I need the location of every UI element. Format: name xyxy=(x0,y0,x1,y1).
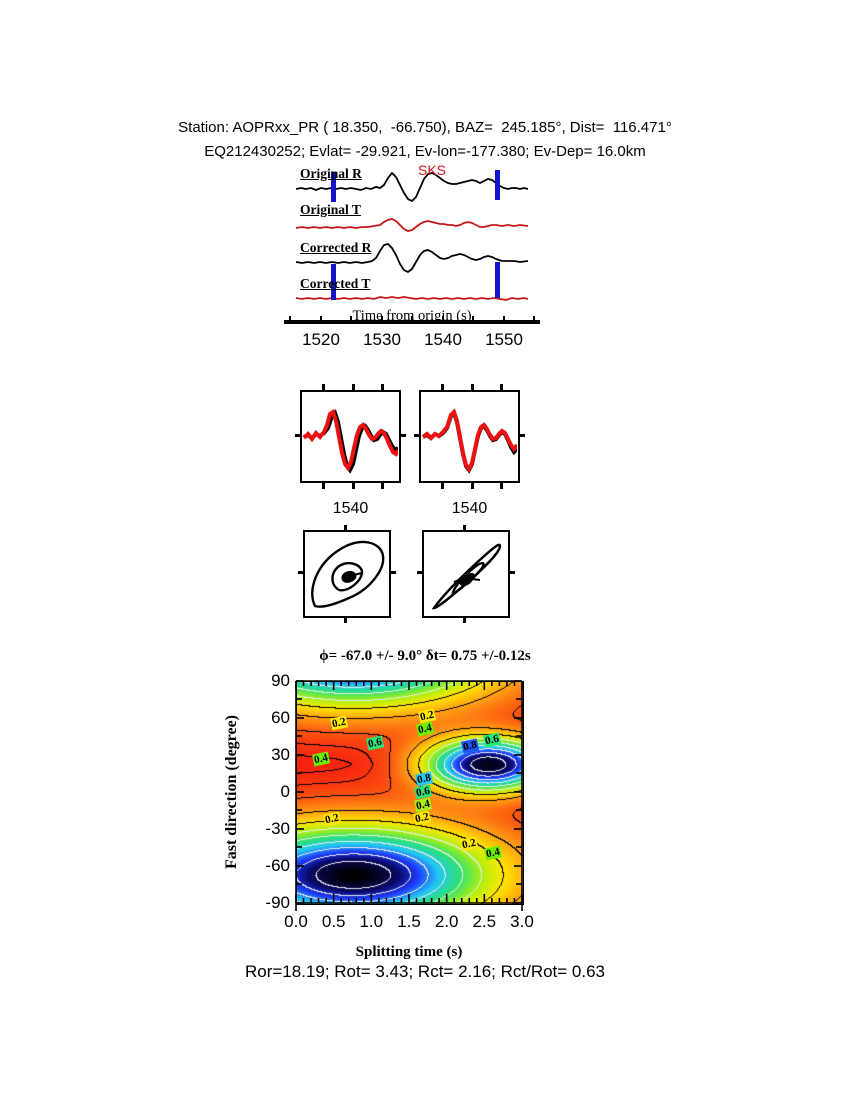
bottom-tick xyxy=(441,481,444,489)
bottom-tick xyxy=(322,481,325,489)
xtick-0.5: 0.5 xyxy=(322,912,346,932)
right-axis-nub xyxy=(399,434,406,437)
contour-label-0.8: 0.8 xyxy=(415,771,433,786)
left-axis-nub xyxy=(298,571,305,574)
ytick-0: 0 xyxy=(281,782,290,802)
trace-label-corrected-transverse: Corrected T xyxy=(300,276,370,292)
quality-statistics-line: Ror=18.19; Rot= 3.43; Rct= 2.16; Rct/Rot… xyxy=(0,962,850,982)
bottom-tick xyxy=(500,481,503,489)
fast-slow-waveforms-uncorrected xyxy=(300,390,401,483)
window-marker-end xyxy=(495,170,500,200)
particle-motion-uncorrected xyxy=(303,530,391,618)
ytick-90: 90 xyxy=(271,671,290,691)
particle-motion-curve-corrected xyxy=(424,532,507,615)
ytick-60: 60 xyxy=(271,708,290,728)
trace-label-original-transverse: Original T xyxy=(300,202,361,218)
bottom-axis-nub xyxy=(463,616,466,623)
ytick-m30: -30 xyxy=(265,819,290,839)
window-marker-end-corrected xyxy=(495,262,500,298)
time-tick-1540: 1540 xyxy=(424,330,462,350)
wf-xtick-label-left: 1540 xyxy=(300,500,401,518)
top-axis-nub xyxy=(463,525,466,532)
bottom-tick xyxy=(471,481,474,489)
left-axis-nub xyxy=(417,571,424,574)
ytick-30: 30 xyxy=(271,745,290,765)
top-tick xyxy=(322,384,325,392)
figure-header: Station: AOPRxx_PR ( 18.350, -66.750), B… xyxy=(0,116,850,164)
time-axis-line xyxy=(274,315,550,329)
bottom-tick xyxy=(352,481,355,489)
xtick-1.5: 1.5 xyxy=(397,912,421,932)
left-axis-nub xyxy=(414,434,421,437)
top-tick xyxy=(381,384,384,392)
right-axis-nub xyxy=(508,571,515,574)
xtick-2.5: 2.5 xyxy=(472,912,496,932)
ytick-m60: -60 xyxy=(265,856,290,876)
top-tick xyxy=(352,384,355,392)
wf-xtick-label-right: 1540 xyxy=(419,500,520,518)
particle-motion-corrected xyxy=(422,530,510,618)
fast-slow-overlay-corrected xyxy=(421,392,517,480)
bottom-tick xyxy=(381,481,384,489)
contour-y-tick-labels: 90 60 30 0 -30 -60 -90 xyxy=(238,681,290,903)
fast-slow-waveforms-corrected xyxy=(419,390,520,483)
xtick-3.0: 3.0 xyxy=(510,912,534,932)
event-info-line: EQ212430252; Evlat= -29.921, Ev-lon=-177… xyxy=(0,140,850,164)
right-axis-nub xyxy=(518,434,525,437)
top-axis-nub xyxy=(344,525,347,532)
trace-original-transverse: Original T xyxy=(296,204,528,238)
contour-x-tick-labels: 0.0 0.5 1.0 1.5 2.0 2.5 3.0 xyxy=(296,912,522,936)
station-info-line: Station: AOPRxx_PR ( 18.350, -66.750), B… xyxy=(0,116,850,140)
particle-motion-curve-uncorrected xyxy=(305,532,388,615)
top-tick xyxy=(500,384,503,392)
bottom-axis-nub xyxy=(344,616,347,623)
contour-x-axis-label: Splitting time (s) xyxy=(296,944,522,961)
trace-label-corrected-radial: Corrected R xyxy=(300,240,371,256)
xtick-0.0: 0.0 xyxy=(284,912,308,932)
trace-label-original-radial: Original R xyxy=(300,166,362,182)
seismogram-panel: SKS Original R Original T Corrected R Co… xyxy=(296,168,528,318)
contour-axis-ticks xyxy=(294,673,526,913)
right-axis-nub xyxy=(389,571,396,574)
left-axis-nub xyxy=(295,434,302,437)
time-tick-1530: 1530 xyxy=(363,330,401,350)
xtick-2.0: 2.0 xyxy=(435,912,459,932)
xtick-1.0: 1.0 xyxy=(359,912,383,932)
trace-corrected-transverse: Corrected T xyxy=(296,278,528,312)
best-fit-star-marker: ★ xyxy=(344,865,364,887)
time-tick-1550: 1550 xyxy=(485,330,523,350)
contour-plot-title: ϕ= -67.0 +/- 9.0° δt= 0.75 +/-0.12s xyxy=(180,648,670,665)
time-tick-1520: 1520 xyxy=(302,330,340,350)
sks-phase-label: SKS xyxy=(418,162,446,178)
contour-label-0.2: 0.2 xyxy=(323,811,341,826)
ytick-m90: -90 xyxy=(265,893,290,913)
trace-original-radial: Original R xyxy=(296,168,528,202)
top-tick xyxy=(441,384,444,392)
fast-slow-overlay-uncorrected xyxy=(302,392,398,480)
top-tick xyxy=(471,384,474,392)
time-axis-tick-labels: 1520 1530 1540 1550 xyxy=(274,330,550,354)
